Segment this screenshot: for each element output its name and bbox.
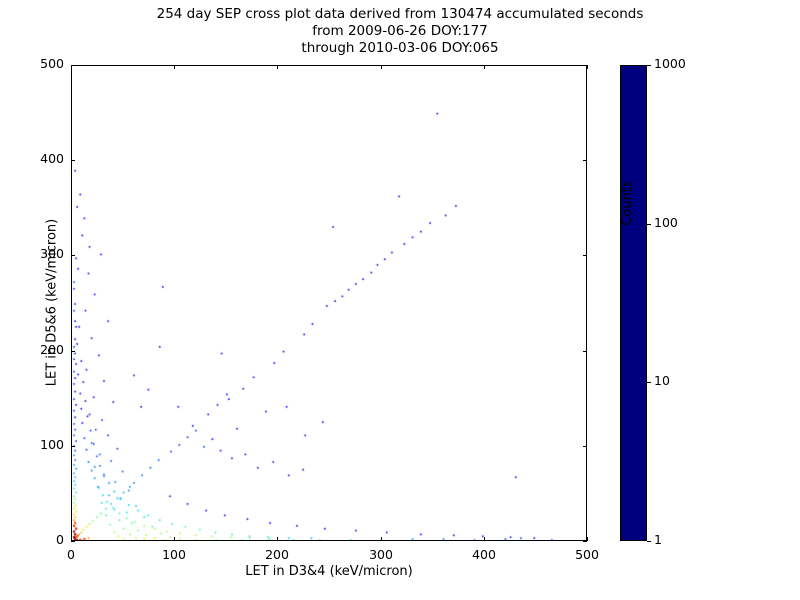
- x-tick-mark-top: [174, 65, 175, 69]
- scatter-points: [72, 66, 587, 541]
- x-tick-mark: [587, 537, 588, 541]
- x-tick-mark-top: [277, 65, 278, 69]
- x-tick-label: 200: [247, 547, 307, 562]
- x-tick-mark: [174, 537, 175, 541]
- y-tick-mark: [71, 541, 75, 542]
- colorbar-tick-mark: [647, 224, 651, 225]
- y-tick-mark-right: [583, 446, 587, 447]
- y-tick-mark: [71, 160, 75, 161]
- colorbar-tick-label: 100: [654, 215, 678, 230]
- colorbar-tick-mark: [647, 541, 651, 542]
- figure-canvas: 254 day SEP cross plot data derived from…: [0, 0, 800, 600]
- x-tick-mark: [484, 537, 485, 541]
- y-tick-mark-right: [583, 351, 587, 352]
- y-tick-mark: [71, 255, 75, 256]
- y-tick-mark: [71, 351, 75, 352]
- y-axis-label: LET in D5&6 (keV/micron): [45, 163, 60, 443]
- colorbar-tick-mark: [647, 65, 651, 66]
- colorbar-tick-label: 1000: [654, 56, 686, 71]
- chart-title: 254 day SEP cross plot data derived from…: [0, 6, 800, 57]
- y-tick-label: 0: [0, 532, 64, 547]
- y-tick-mark-right: [583, 541, 587, 542]
- x-axis-label: LET in D3&4 (keV/micron): [71, 564, 587, 579]
- x-tick-label: 500: [557, 547, 617, 562]
- colorbar-tick-mark: [647, 382, 651, 383]
- x-tick-label: 400: [454, 547, 514, 562]
- x-tick-mark: [277, 537, 278, 541]
- x-tick-mark-top: [484, 65, 485, 69]
- y-tick-mark-right: [583, 160, 587, 161]
- x-tick-mark-top: [587, 65, 588, 69]
- x-tick-mark: [381, 537, 382, 541]
- colorbar-label: Counts: [620, 103, 635, 303]
- colorbar-tick-label: 1: [654, 532, 662, 547]
- y-tick-mark-right: [583, 255, 587, 256]
- title-line-1: 254 day SEP cross plot data derived from…: [0, 6, 800, 23]
- title-line-3: through 2010-03-06 DOY:065: [0, 40, 800, 57]
- x-tick-label: 0: [41, 547, 101, 562]
- y-tick-label: 500: [0, 56, 64, 71]
- plot-area[interactable]: [71, 65, 587, 541]
- y-tick-mark-right: [583, 65, 587, 66]
- y-tick-mark: [71, 446, 75, 447]
- x-tick-label: 100: [144, 547, 204, 562]
- colorbar-tick-label: 10: [654, 373, 670, 388]
- x-tick-label: 300: [351, 547, 411, 562]
- title-line-2: from 2009-06-26 DOY:177: [0, 23, 800, 40]
- x-tick-mark-top: [381, 65, 382, 69]
- y-tick-mark: [71, 65, 75, 66]
